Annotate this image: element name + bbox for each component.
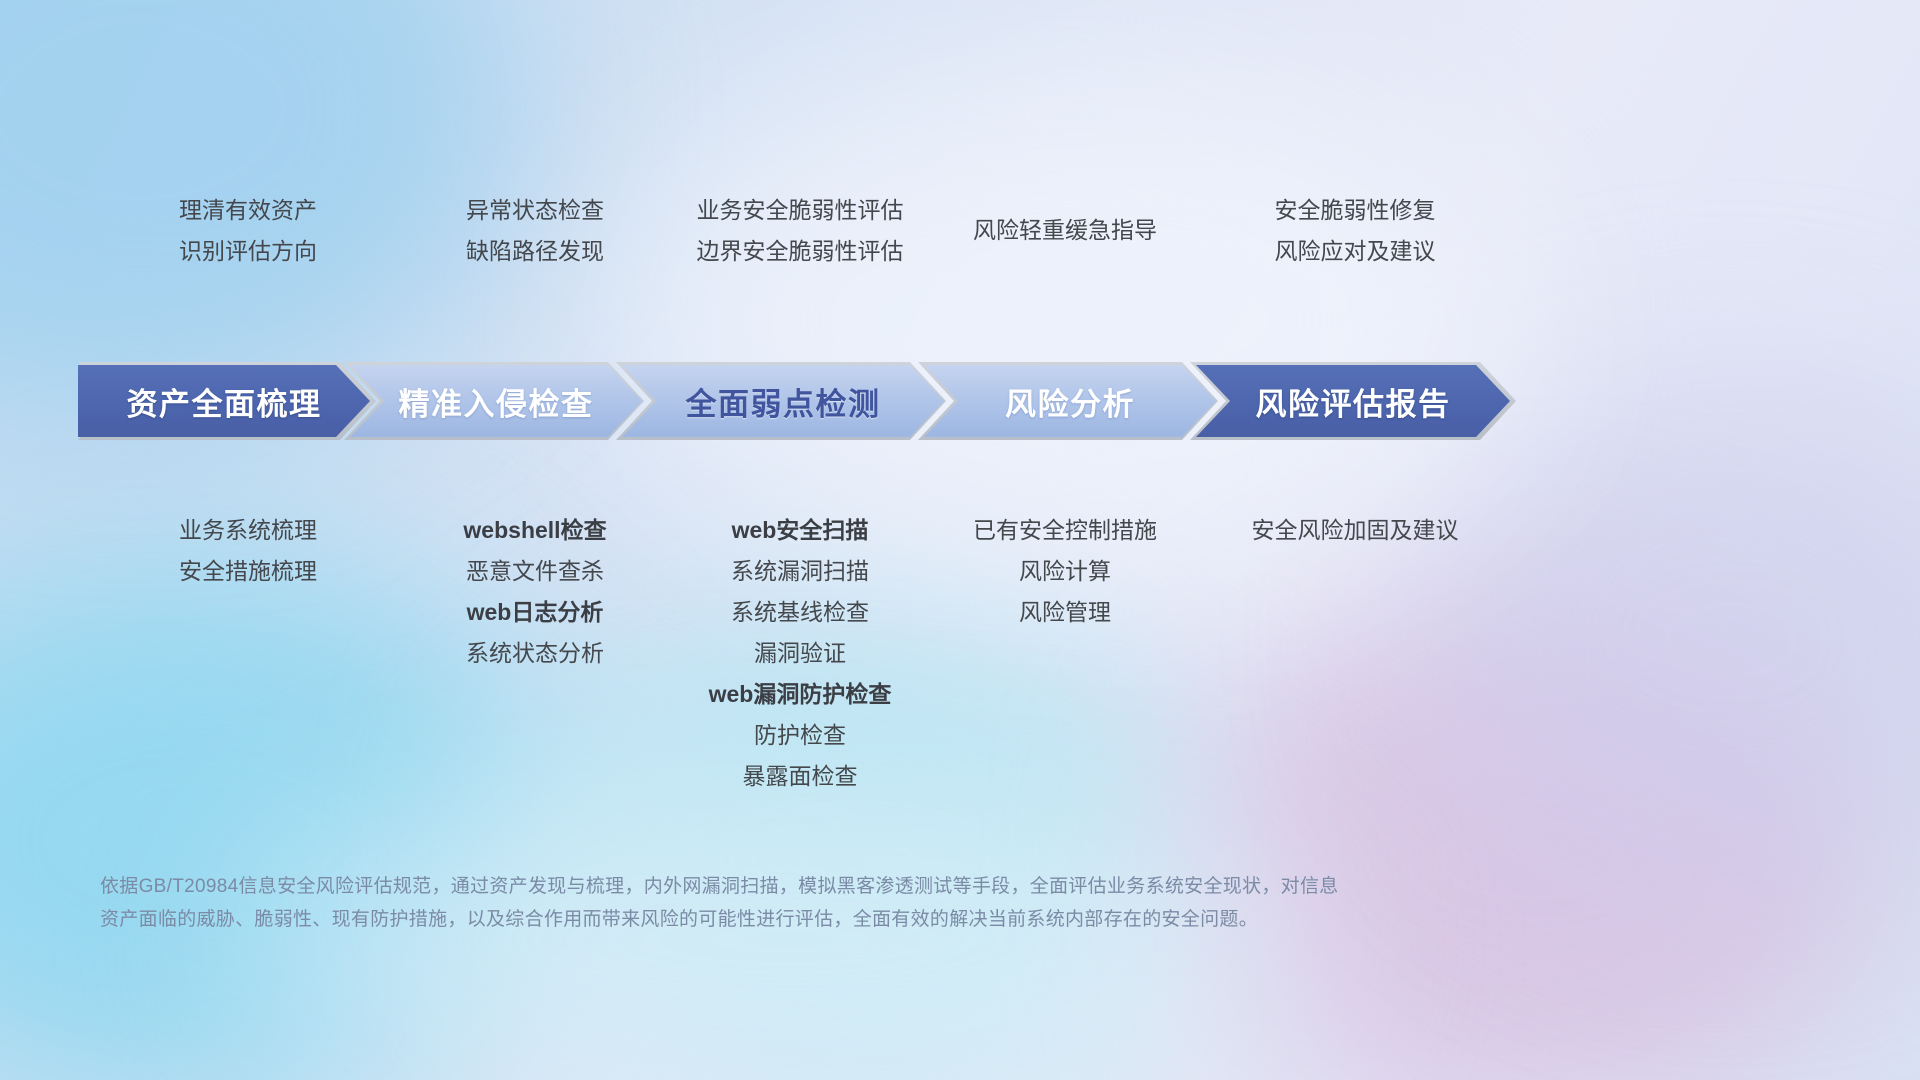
top-item: 安全脆弱性修复	[1145, 190, 1565, 231]
chevron-stage-4-label: 风险分析	[1005, 379, 1135, 424]
chevron-stage-4[interactable]: 风险分析	[924, 365, 1216, 437]
column-top-text-5: 安全脆弱性修复 风险应对及建议	[1145, 190, 1565, 272]
chevron-stage-2-label: 精准入侵检查	[399, 379, 594, 424]
footer-line-2: 资产面临的威胁、脆弱性、现有防护措施，以及综合作用而带来风险的可能性进行评估，全…	[100, 903, 1620, 936]
column-bottom-text-5: 安全风险加固及建议	[1145, 510, 1565, 551]
bottom-item: web漏洞防护检查	[565, 674, 1035, 715]
footer-line-1: 依据GB/T20984信息安全风险评估规范，通过资产发现与梳理，内外网漏洞扫描，…	[100, 870, 1620, 903]
bottom-item: 漏洞验证	[565, 633, 1035, 674]
bottom-item: 风险管理	[855, 592, 1275, 633]
chevron-stage-2[interactable]: 精准入侵检查	[350, 365, 642, 437]
chevron-stage-5[interactable]: 风险评估报告	[1196, 365, 1510, 437]
bottom-item: 安全风险加固及建议	[1145, 510, 1565, 551]
top-item: 风险应对及建议	[1145, 231, 1565, 272]
chevron-stage-5-label: 风险评估报告	[1256, 379, 1451, 424]
chevron-stage-1[interactable]: 资产全面梳理	[78, 365, 370, 437]
chevron-stage-3[interactable]: 全面弱点检测	[622, 365, 944, 437]
chevron-stage-3-label: 全面弱点检测	[686, 379, 881, 424]
footer-description: 依据GB/T20984信息安全风险评估规范，通过资产发现与梳理，内外网漏洞扫描，…	[100, 870, 1620, 936]
process-chevron-band: 资产全面梳理 精准入侵检查 全面弱点检测 风险分析 风险评估报告	[78, 365, 1510, 437]
chevron-stage-1-label: 资产全面梳理	[127, 379, 322, 424]
background-blob-white-mid	[620, 60, 1520, 580]
bottom-item: 暴露面检查	[565, 756, 1035, 797]
bottom-item: 防护检查	[565, 715, 1035, 756]
bottom-item: 风险计算	[855, 551, 1275, 592]
